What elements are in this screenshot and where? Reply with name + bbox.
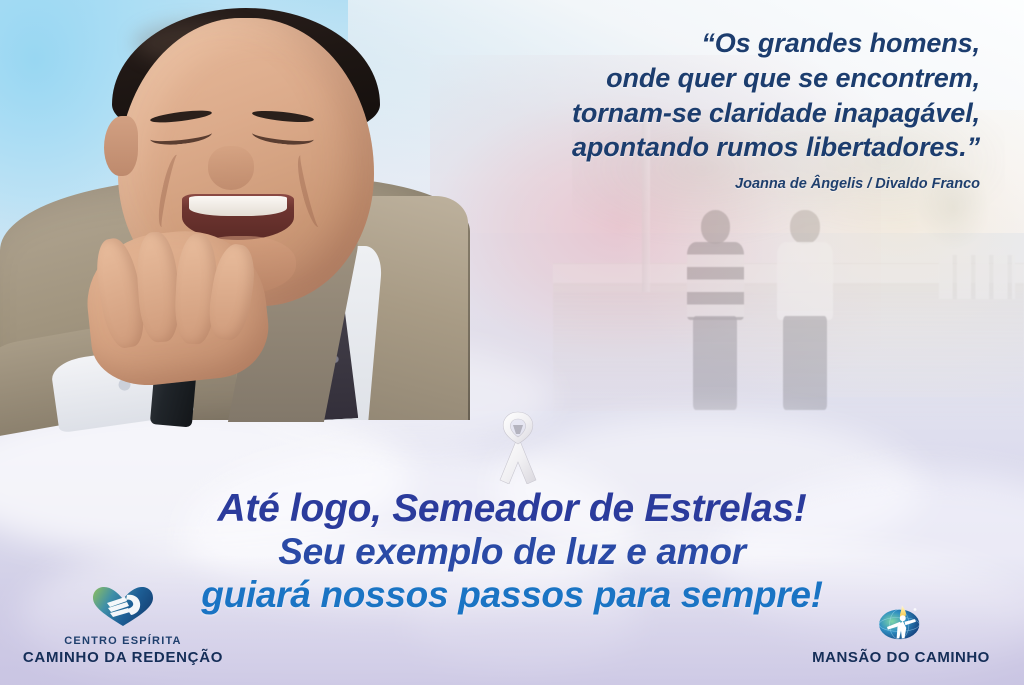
logo-right-line-2: MANSÃO DO CAMINHO <box>786 649 1016 667</box>
globe-figure-flame-icon <box>786 599 1016 646</box>
quote-line-1: “Os grandes homens, <box>420 26 980 61</box>
logo-centro-espirita-caminho-da-redencao[interactable]: CENTRO ESPÍRITA CAMINHO DA REDENÇÃO <box>8 585 238 667</box>
white-ribbon-icon <box>487 410 549 484</box>
quote-attribution: Joanna de Ângelis / Divaldo Franco <box>420 176 980 192</box>
portrait-divaldo-franco <box>0 0 470 420</box>
quote-block: “Os grandes homens, onde quer que se enc… <box>420 26 980 192</box>
headline-line-1: Até logo, Semeador de Estrelas! <box>0 486 1024 531</box>
headline-line-2: Seu exemplo de luz e amor <box>0 531 1024 574</box>
quote-line-4: apontando rumos libertadores.” <box>420 130 980 165</box>
logo-mansao-do-caminho[interactable]: MANSÃO DO CAMINHO <box>786 599 1016 667</box>
logo-left-line-1: CENTRO ESPÍRITA <box>8 635 238 649</box>
nose <box>208 146 254 190</box>
quote-line-2: onde quer que se encontrem, <box>420 61 980 96</box>
white-fence <box>939 255 1014 299</box>
quote-line-3: tornam-se claridade inapagável, <box>420 96 980 131</box>
ear <box>104 116 138 176</box>
hands-heart-icon <box>8 585 238 632</box>
logo-left-line-2: CAMINHO DA REDENÇÃO <box>8 649 238 667</box>
memorial-poster: “Os grandes homens, onde quer que se enc… <box>0 0 1024 685</box>
